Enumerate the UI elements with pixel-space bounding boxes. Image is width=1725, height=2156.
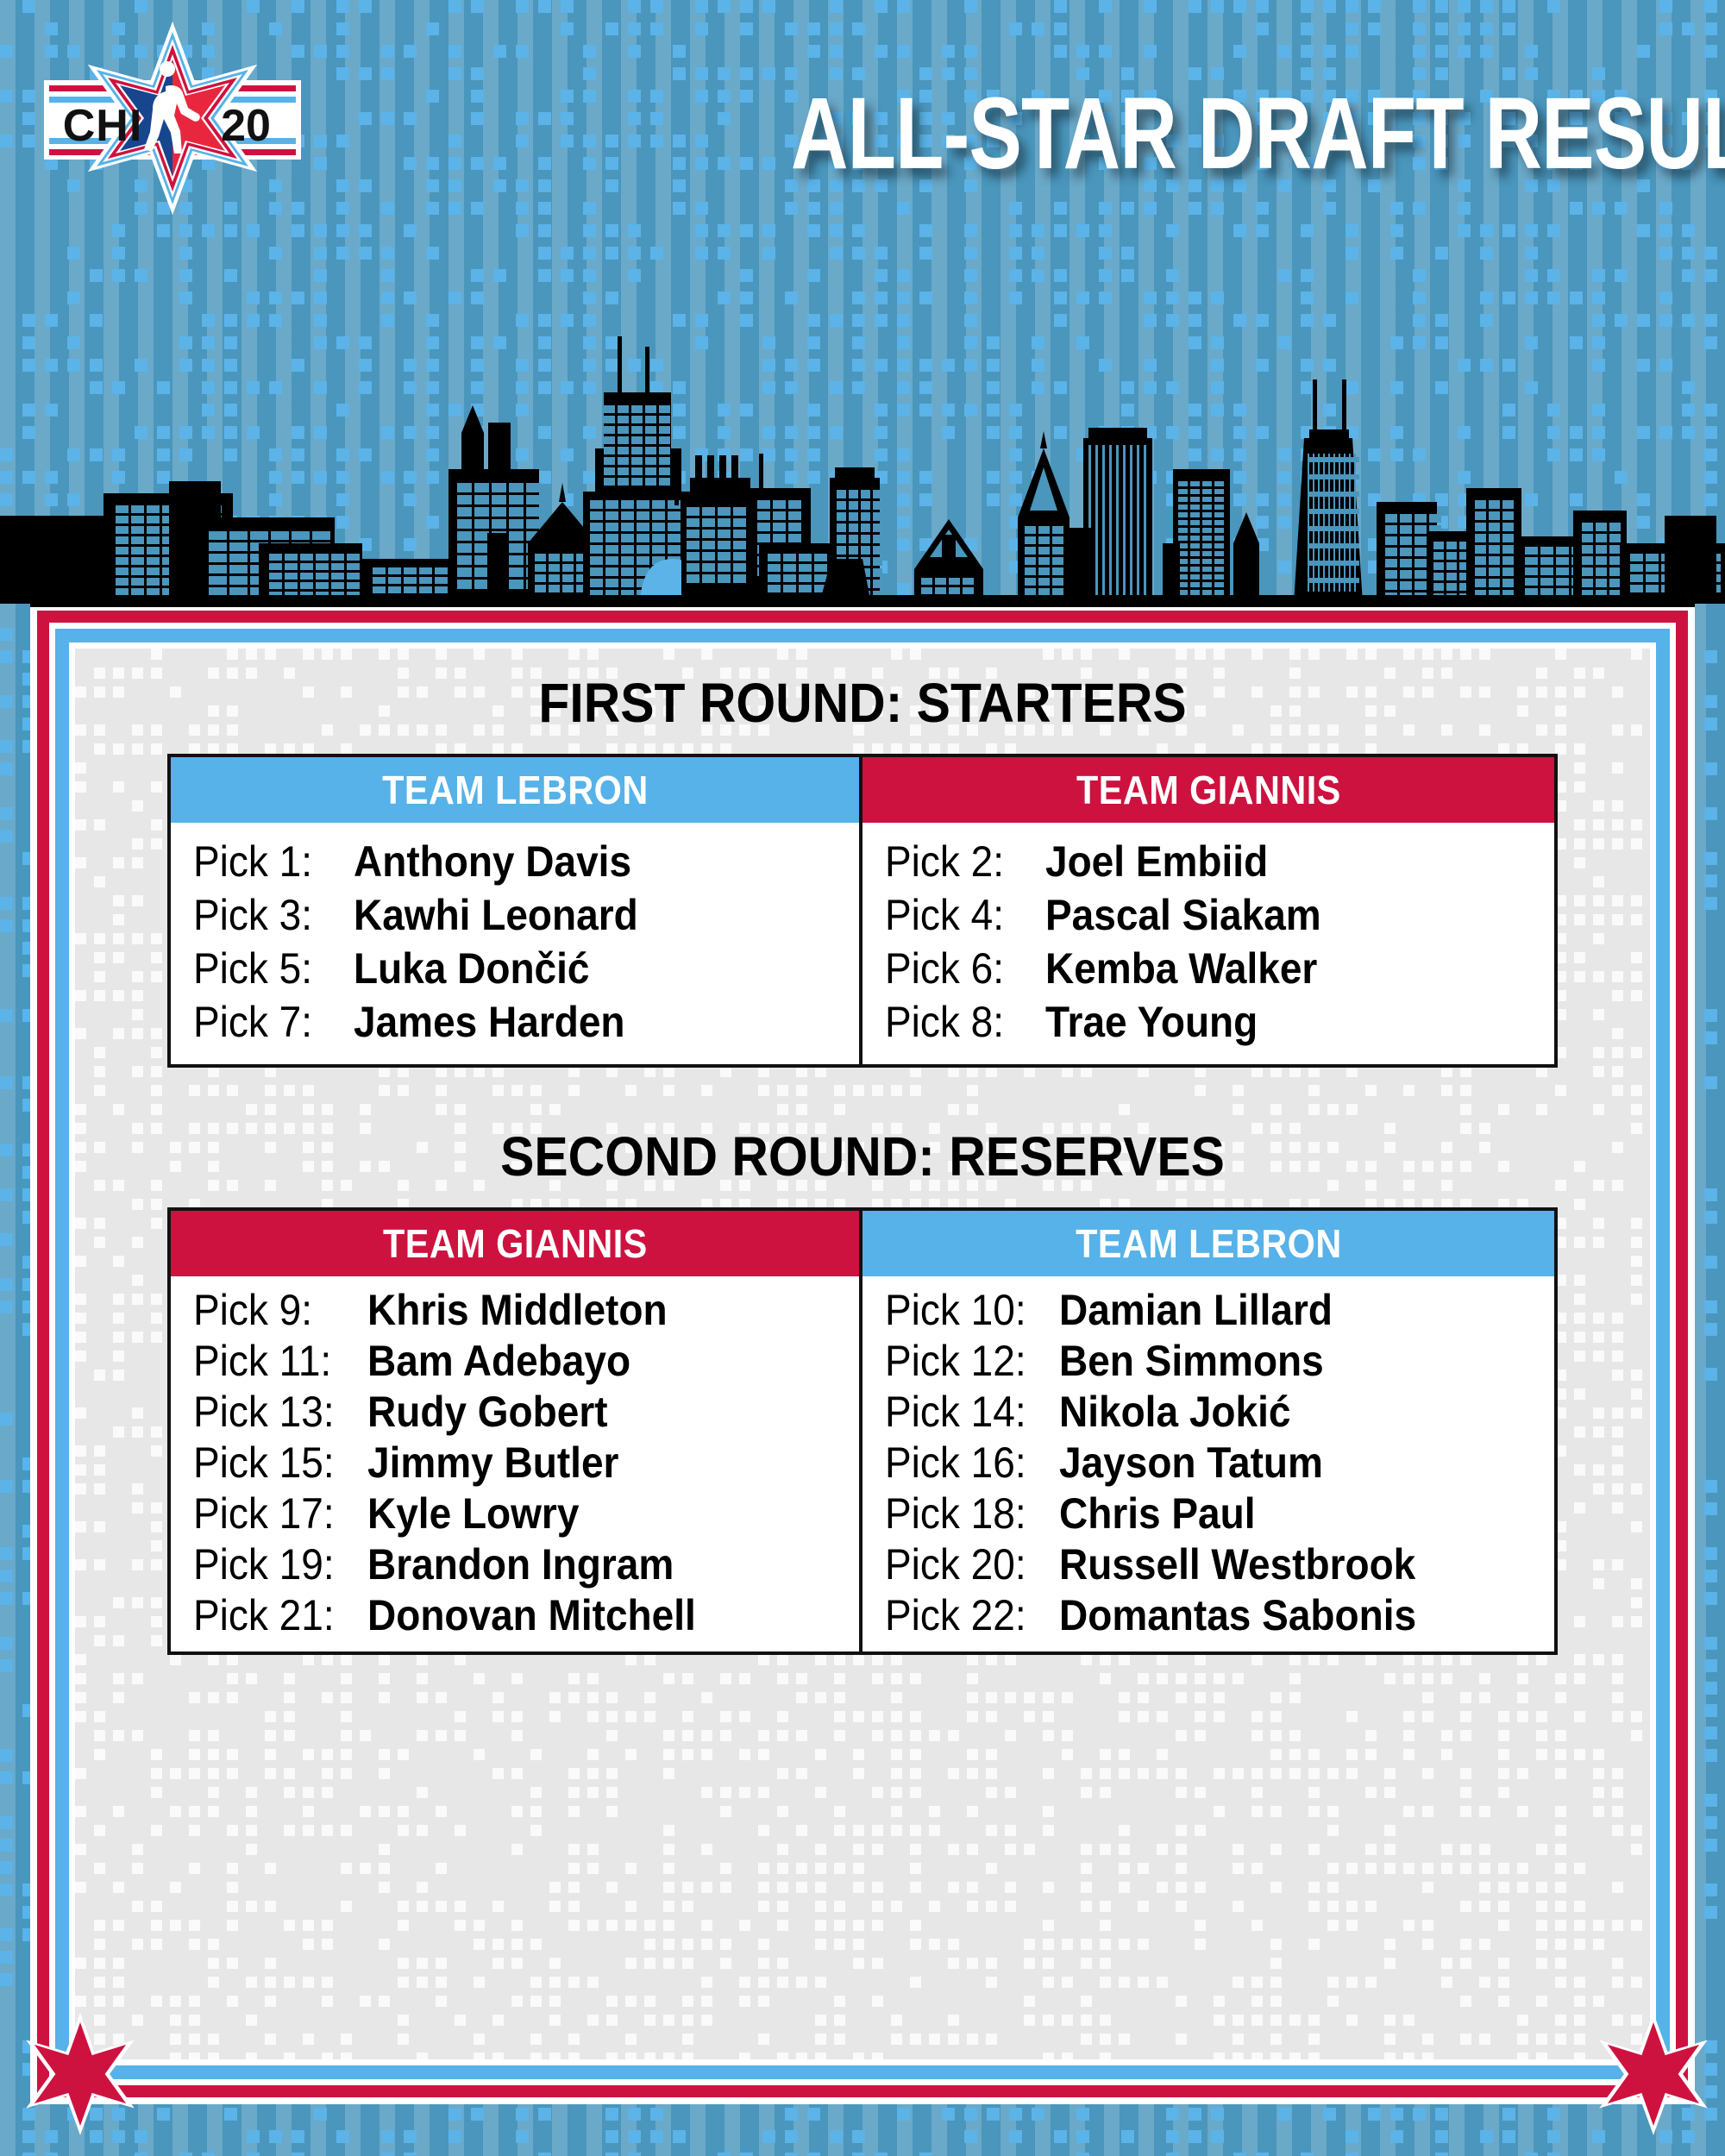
pick-player: Trae Young — [1045, 995, 1258, 1049]
pick-row: Pick 3: Kawhi Leonard — [171, 888, 859, 942]
pick-player: Rudy Gobert — [367, 1387, 608, 1438]
pick-player: Russell Westbrook — [1059, 1539, 1415, 1590]
pick-label: Pick 2: — [885, 835, 1032, 888]
draft-results-content: FIRST ROUND: STARTERS TEAM LEBRON Pick 1… — [75, 649, 1650, 2059]
logo-city-code: CHI — [63, 101, 143, 151]
pick-player: Damian Lillard — [1059, 1285, 1333, 1336]
pick-row: Pick 18: Chris Paul — [862, 1489, 1554, 1539]
pick-row: Pick 5: Luka Dončić — [171, 942, 859, 995]
pick-row: Pick 11: Bam Adebayo — [171, 1336, 859, 1387]
pick-player: Khris Middleton — [367, 1285, 668, 1336]
second-round-table: TEAM GIANNIS Pick 9: Khris Middleton Pic… — [167, 1207, 1558, 1655]
pick-player: Joel Embiid — [1045, 835, 1268, 888]
pick-label: Pick 8: — [885, 995, 1032, 1049]
pick-label: Pick 1: — [193, 835, 341, 888]
first-round-table: TEAM LEBRON Pick 1: Anthony Davis Pick 3… — [167, 754, 1558, 1068]
team-header-lebron-label: TEAM LEBRON — [1076, 1220, 1342, 1267]
second-round-column-lebron: TEAM LEBRON Pick 10: Damian Lillard Pick… — [862, 1211, 1554, 1651]
pick-row: Pick 15: Jimmy Butler — [171, 1438, 859, 1489]
pick-player: Luka Dončić — [354, 942, 590, 995]
pick-label: Pick 5: — [193, 942, 341, 995]
pick-label: Pick 12: — [885, 1336, 1045, 1387]
pick-row: Pick 16: Jayson Tatum — [862, 1438, 1554, 1489]
pick-label: Pick 20: — [885, 1539, 1045, 1590]
pick-player: Ben Simmons — [1059, 1336, 1324, 1387]
pick-player: Jayson Tatum — [1059, 1438, 1323, 1489]
pick-player: Jimmy Butler — [367, 1438, 618, 1489]
pick-player: Domantas Sabonis — [1059, 1590, 1416, 1641]
pick-list: Pick 10: Damian Lillard Pick 12: Ben Sim… — [862, 1276, 1554, 1651]
pick-list: Pick 2: Joel Embiid Pick 4: Pascal Siaka… — [862, 823, 1554, 1064]
pick-player: Pascal Siakam — [1045, 888, 1321, 942]
chicago-flag-star-right-icon — [1589, 2009, 1718, 2139]
pick-player: Kawhi Leonard — [354, 888, 638, 942]
pick-label: Pick 14: — [885, 1387, 1045, 1438]
pick-label: Pick 4: — [885, 888, 1032, 942]
pick-player: Bam Adebayo — [367, 1336, 630, 1387]
first-round-column-lebron: TEAM LEBRON Pick 1: Anthony Davis Pick 3… — [171, 757, 862, 1064]
pick-row: Pick 2: Joel Embiid — [862, 835, 1554, 888]
pick-row: Pick 21: Donovan Mitchell — [171, 1590, 859, 1641]
team-header-giannis-label: TEAM GIANNIS — [383, 1220, 648, 1267]
pick-label: Pick 19: — [193, 1539, 354, 1590]
pick-label: Pick 16: — [885, 1438, 1045, 1489]
pick-player: Brandon Ingram — [367, 1539, 674, 1590]
pick-player: Donovan Mitchell — [367, 1590, 696, 1641]
pick-label: Pick 13: — [193, 1387, 354, 1438]
pick-player: Anthony Davis — [354, 835, 631, 888]
pick-label: Pick 11: — [193, 1336, 354, 1387]
pick-label: Pick 6: — [885, 942, 1032, 995]
pick-label: Pick 7: — [193, 995, 341, 1049]
pick-row: Pick 19: Brandon Ingram — [171, 1539, 859, 1590]
team-header-lebron: TEAM LEBRON — [862, 1211, 1554, 1276]
page-title: ALL-STAR DRAFT RESULTS — [791, 82, 1699, 185]
pick-label: Pick 10: — [885, 1285, 1045, 1336]
pick-row: Pick 7: James Harden — [171, 995, 859, 1049]
pick-list: Pick 9: Khris Middleton Pick 11: Bam Ade… — [171, 1276, 859, 1651]
team-header-giannis: TEAM GIANNIS — [862, 757, 1554, 823]
second-round-column-giannis: TEAM GIANNIS Pick 9: Khris Middleton Pic… — [171, 1211, 862, 1651]
pick-list: Pick 1: Anthony Davis Pick 3: Kawhi Leon… — [171, 823, 859, 1064]
pick-row: Pick 1: Anthony Davis — [171, 835, 859, 888]
pick-player: James Harden — [354, 995, 625, 1049]
first-round-column-giannis: TEAM GIANNIS Pick 2: Joel Embiid Pick 4:… — [862, 757, 1554, 1064]
pick-row: Pick 22: Domantas Sabonis — [862, 1590, 1554, 1641]
pick-row: Pick 6: Kemba Walker — [862, 942, 1554, 995]
logo-year: 20 — [221, 101, 271, 151]
chicago-flag-star-left-icon — [16, 2009, 145, 2139]
pick-label: Pick 9: — [193, 1285, 354, 1336]
second-round-heading: SECOND ROUND: RESERVES — [138, 1126, 1587, 1187]
skyline-baseline — [30, 595, 1695, 607]
pick-row: Pick 9: Khris Middleton — [171, 1285, 859, 1336]
pick-player: Kemba Walker — [1045, 942, 1317, 995]
first-round-heading: FIRST ROUND: STARTERS — [138, 673, 1587, 733]
pick-row: Pick 10: Damian Lillard — [862, 1285, 1554, 1336]
pick-label: Pick 18: — [885, 1489, 1045, 1539]
pick-row: Pick 20: Russell Westbrook — [862, 1539, 1554, 1590]
team-header-lebron: TEAM LEBRON — [171, 757, 859, 823]
pick-row: Pick 8: Trae Young — [862, 995, 1554, 1049]
team-header-giannis-label: TEAM GIANNIS — [1076, 767, 1341, 813]
pick-row: Pick 13: Rudy Gobert — [171, 1387, 859, 1438]
pick-label: Pick 21: — [193, 1590, 354, 1641]
team-header-giannis: TEAM GIANNIS — [171, 1211, 859, 1276]
pick-label: Pick 15: — [193, 1438, 354, 1489]
pick-player: Nikola Jokić — [1059, 1387, 1290, 1438]
team-header-lebron-label: TEAM LEBRON — [382, 767, 649, 813]
pick-label: Pick 17: — [193, 1489, 354, 1539]
chicago-skyline-icon — [0, 285, 1725, 604]
pick-label: Pick 22: — [885, 1590, 1045, 1641]
pick-player: Kyle Lowry — [367, 1489, 579, 1539]
pick-row: Pick 4: Pascal Siakam — [862, 888, 1554, 942]
pick-label: Pick 3: — [193, 888, 341, 942]
pick-row: Pick 12: Ben Simmons — [862, 1336, 1554, 1387]
pick-player: Chris Paul — [1059, 1489, 1256, 1539]
pick-row: Pick 14: Nikola Jokić — [862, 1387, 1554, 1438]
nba-all-star-logo-icon: CHI 20 — [30, 22, 315, 224]
pick-row: Pick 17: Kyle Lowry — [171, 1489, 859, 1539]
